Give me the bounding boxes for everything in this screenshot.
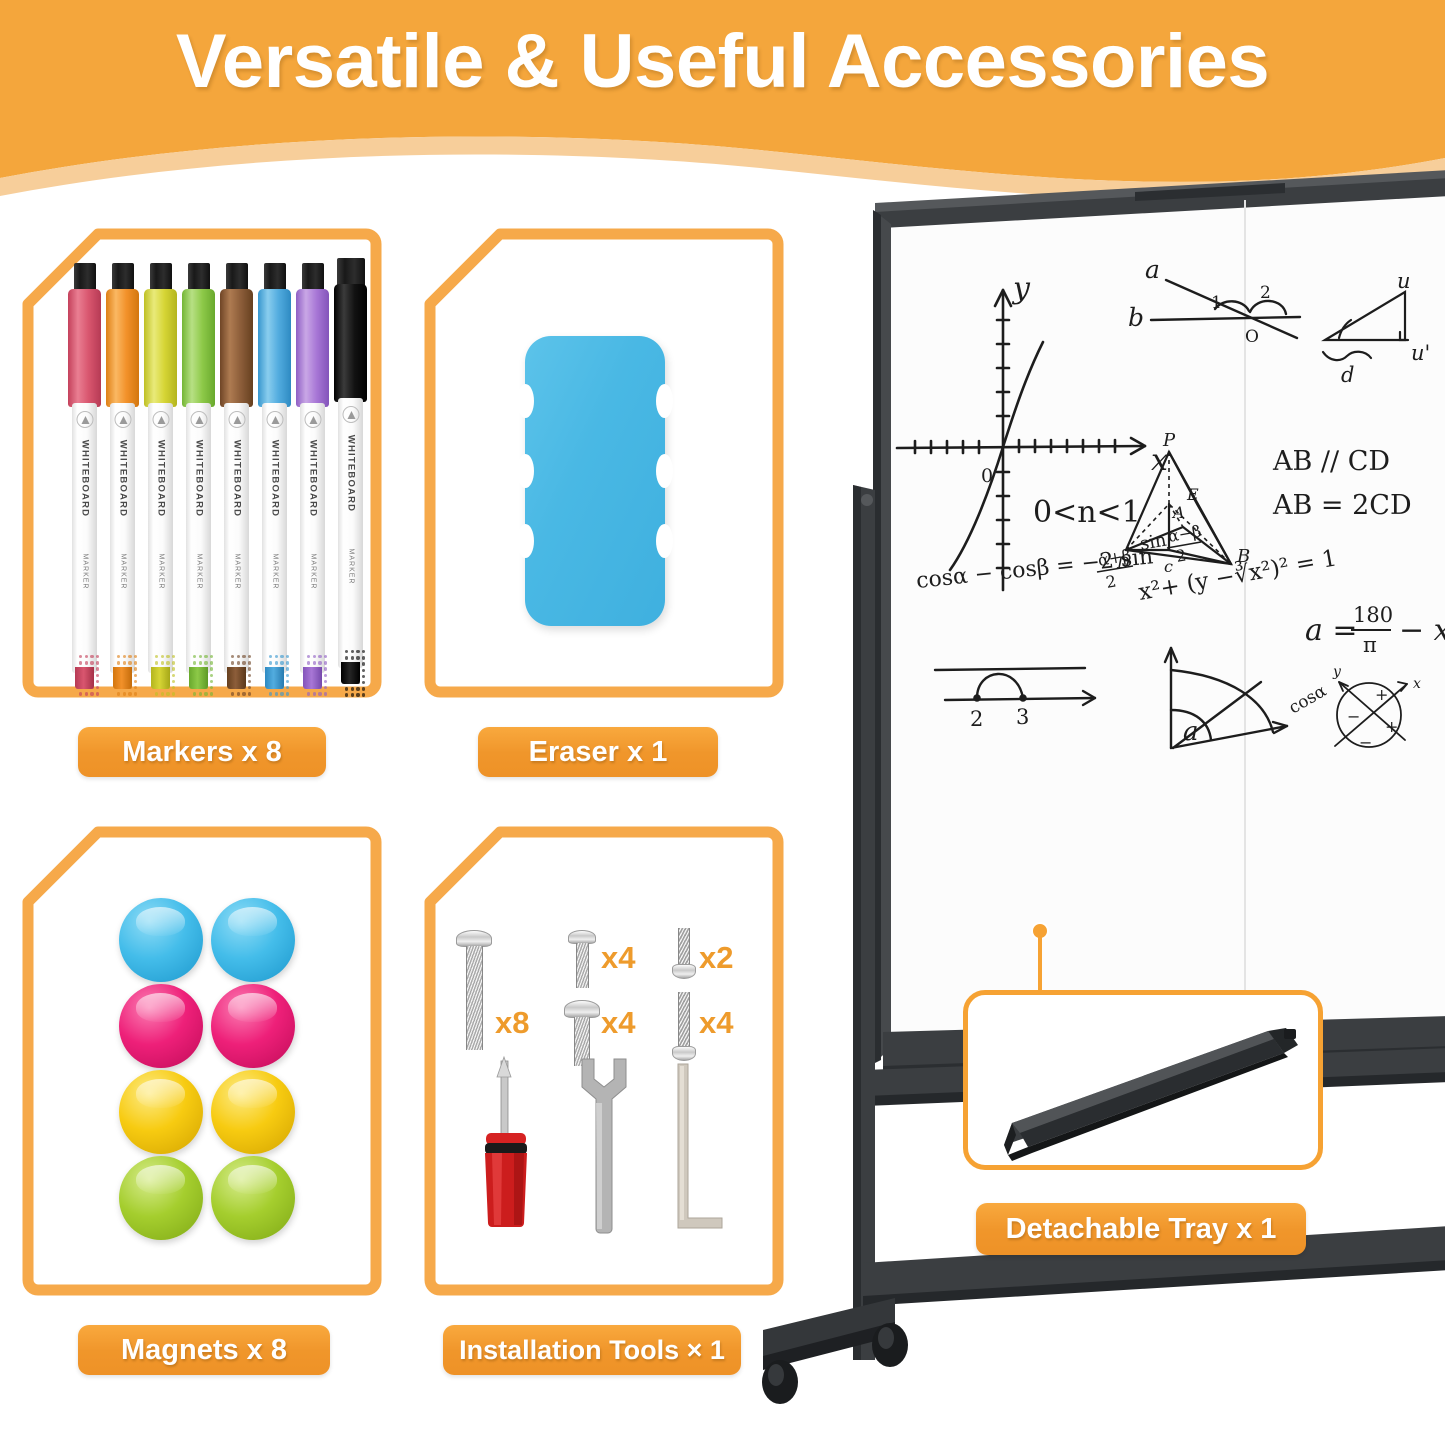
tool-allen-key [658,1060,728,1235]
bolt-shaft [576,943,589,988]
magnet-green-2 [211,1156,295,1240]
marker-barrel: WHITEBOARD MARKER [224,403,249,673]
ink-label-A: A [1171,503,1185,522]
screw-head [672,1046,696,1061]
eraser [525,336,665,626]
eraser-notch [517,454,534,488]
badge-tools: Installation Tools × 1 [443,1325,741,1375]
panel-markers-content: WHITEBOARD MARKER WHITEBOARD MARKER WHIT [22,228,382,698]
ink-label-D: D [1116,553,1130,572]
marker-tip [75,667,94,689]
marker-purple: WHITEBOARD MARKER [296,263,329,691]
ink-label-angle2: 2 [1260,283,1271,303]
marker-nib-icon [228,411,245,428]
detachable-tray [968,995,1318,1165]
magnet-green-1 [119,1156,203,1240]
marker-body [258,289,291,407]
marker-body [68,289,101,407]
ink-label-b: b [1128,303,1144,332]
marker-brand-text: WHITEBOARD [231,440,242,517]
marker-tip [227,667,246,689]
badge-magnets-label: Magnets x 8 [121,1334,287,1367]
marker-barrel: WHITEBOARD MARKER [110,403,135,673]
ink-label-a: a [1145,255,1160,284]
ink-axis-y-label: y [1011,271,1031,306]
magnet-magenta-1 [119,984,203,1068]
marker-type-text: MARKER [119,554,126,590]
svg-text:180: 180 [1353,603,1393,627]
callout-connector-line [1038,930,1042,992]
marker-nib-icon [76,411,93,428]
marker-barrel: WHITEBOARD MARKER [148,403,173,673]
marker-brand-text: WHITEBOARD [345,435,356,512]
marker-tip [265,667,284,689]
bolt-shaft [466,946,483,1050]
eraser-notch [656,384,673,418]
marker-yellow: WHITEBOARD MARKER [144,263,177,691]
qty-short-screw: x2 [699,940,733,976]
hardware-long-screw [672,992,696,1064]
badge-detachable-tray: Detachable Tray x 1 [976,1203,1306,1255]
ink-ratio-statement: AB = 2CD [1272,490,1412,521]
badge-detachable-tray-label: Detachable Tray x 1 [1006,1213,1277,1246]
screw-thread [678,928,690,968]
svg-text:π: π [1363,633,1377,657]
magnet-blue-2 [211,898,295,982]
marker-tip [189,667,208,689]
marker-body [106,289,139,407]
marker-tip [151,667,170,689]
screw-thread [678,992,690,1050]
marker-type-text: MARKER [157,554,164,590]
marker-nib-icon [114,411,131,428]
magnet-yellow-2 [211,1070,295,1154]
qty-short-bolt: x4 [601,940,635,976]
ink-label-u: u [1397,269,1411,293]
eraser-notch [517,524,534,558]
marker-type-text: MARKER [195,554,202,590]
marker-nib-icon [342,406,359,423]
marker-brand-text: WHITEBOARD [307,440,318,517]
ink-label-d: d [1341,363,1354,387]
ink-label-E: E [1186,485,1199,504]
whiteboard-assembly: y x 0 0<n<1 cosα − cosβ = −2 sin α+β 2 s… [745,170,1445,1450]
ink-label-angle1: 1 [1211,293,1222,313]
marker-type-text: MARKER [271,554,278,590]
qty-long-bolt: x8 [495,1005,529,1041]
marker-type-text: MARKER [81,554,88,590]
ink-inequality: 0<n<1 [1033,495,1141,530]
marker-pink: WHITEBOARD MARKER [68,263,101,691]
screw-head [672,964,696,979]
magnet-blue-1 [119,898,203,982]
badge-magnets: Magnets x 8 [78,1325,330,1375]
marker-black: WHITEBOARD MARKER [334,258,367,691]
marker-body [296,289,329,407]
marker-body [182,289,215,407]
ink-origin-label: 0 [981,465,993,487]
marker-blue: WHITEBOARD MARKER [258,263,291,691]
badge-markers-label: Markers x 8 [122,736,282,769]
ink-numberline-2: 2 [970,707,983,731]
bolt-head [564,1000,600,1018]
hardware-short-bolt [568,930,596,988]
marker-tip [303,667,322,689]
marker-green: WHITEBOARD MARKER [182,263,215,691]
ink-quad-axis-y: y [1332,664,1342,680]
eraser-notch [517,384,534,418]
qty-long-screw: x4 [699,1005,733,1041]
ink-quad-sign-2: − [1347,707,1360,726]
marker-barrel: WHITEBOARD MARKER [300,403,325,673]
marker-nib-icon [152,411,169,428]
marker-brand-text: WHITEBOARD [79,440,90,517]
tool-screwdriver [452,1055,562,1235]
marker-body [220,289,253,407]
hardware-short-screw [672,928,696,986]
bolt-head [456,930,492,947]
panel-markers: WHITEBOARD MARKER WHITEBOARD MARKER WHIT [22,228,382,698]
ink-numberline-3: 3 [1016,705,1029,729]
ink-label-O: O [1245,327,1259,347]
qty-medium-bolt: x4 [601,1005,635,1041]
marker-brown: WHITEBOARD MARKER [220,263,253,691]
panel-magnets [22,826,382,1296]
magnet-yellow-1 [119,1070,203,1154]
marker-barrel: WHITEBOARD MARKER [338,398,363,668]
marker-brand-text: WHITEBOARD [117,440,128,517]
bolt-head [568,930,596,944]
ink-quad-sign-3: + [1385,717,1398,736]
marker-nib-icon [190,411,207,428]
ink-quad-axis-x: x [1413,676,1421,692]
marker-type-text: MARKER [233,554,240,590]
eraser-notch [656,454,673,488]
marker-barrel: WHITEBOARD MARKER [186,403,211,673]
svg-text:− x: − x [1399,613,1445,648]
marker-nib-icon [266,411,283,428]
ink-label-u-prime: u' [1411,341,1430,365]
marker-tip [113,667,132,689]
badge-markers: Markers x 8 [78,727,326,777]
svg-text:a =: a = [1305,613,1358,648]
ink-quad-sign-1: + [1375,685,1388,704]
page-title: Versatile & Useful Accessories [0,18,1445,105]
callout-detachable-tray [963,990,1323,1170]
ink-angle-alpha: a [1183,717,1199,747]
marker-brand-text: WHITEBOARD [155,440,166,517]
ink-label-P: P [1162,430,1176,451]
marker-body [334,284,367,402]
marker-nib-icon [304,411,321,428]
marker-tip [341,662,360,684]
marker-orange: WHITEBOARD MARKER [106,263,139,691]
magnet-magenta-2 [211,984,295,1068]
ink-parallel-statement: AB ∕∕ CD [1272,446,1390,477]
panel-magnets-frame [22,826,382,1296]
marker-barrel: WHITEBOARD MARKER [262,403,287,673]
badge-eraser: Eraser x 1 [478,727,718,777]
marker-brand-text: WHITEBOARD [269,440,280,517]
eraser-notch [656,524,673,558]
marker-body [144,289,177,407]
marker-barrel: WHITEBOARD MARKER [72,403,97,673]
badge-eraser-label: Eraser x 1 [529,736,668,769]
marker-type-text: MARKER [347,549,354,585]
badge-tools-label: Installation Tools × 1 [459,1335,725,1366]
tool-wrench [556,1053,646,1238]
ink-quad-sign-4: − [1359,733,1372,752]
marker-type-text: MARKER [309,554,316,590]
marker-brand-text: WHITEBOARD [193,440,204,517]
hardware-long-bolt [456,930,492,1050]
